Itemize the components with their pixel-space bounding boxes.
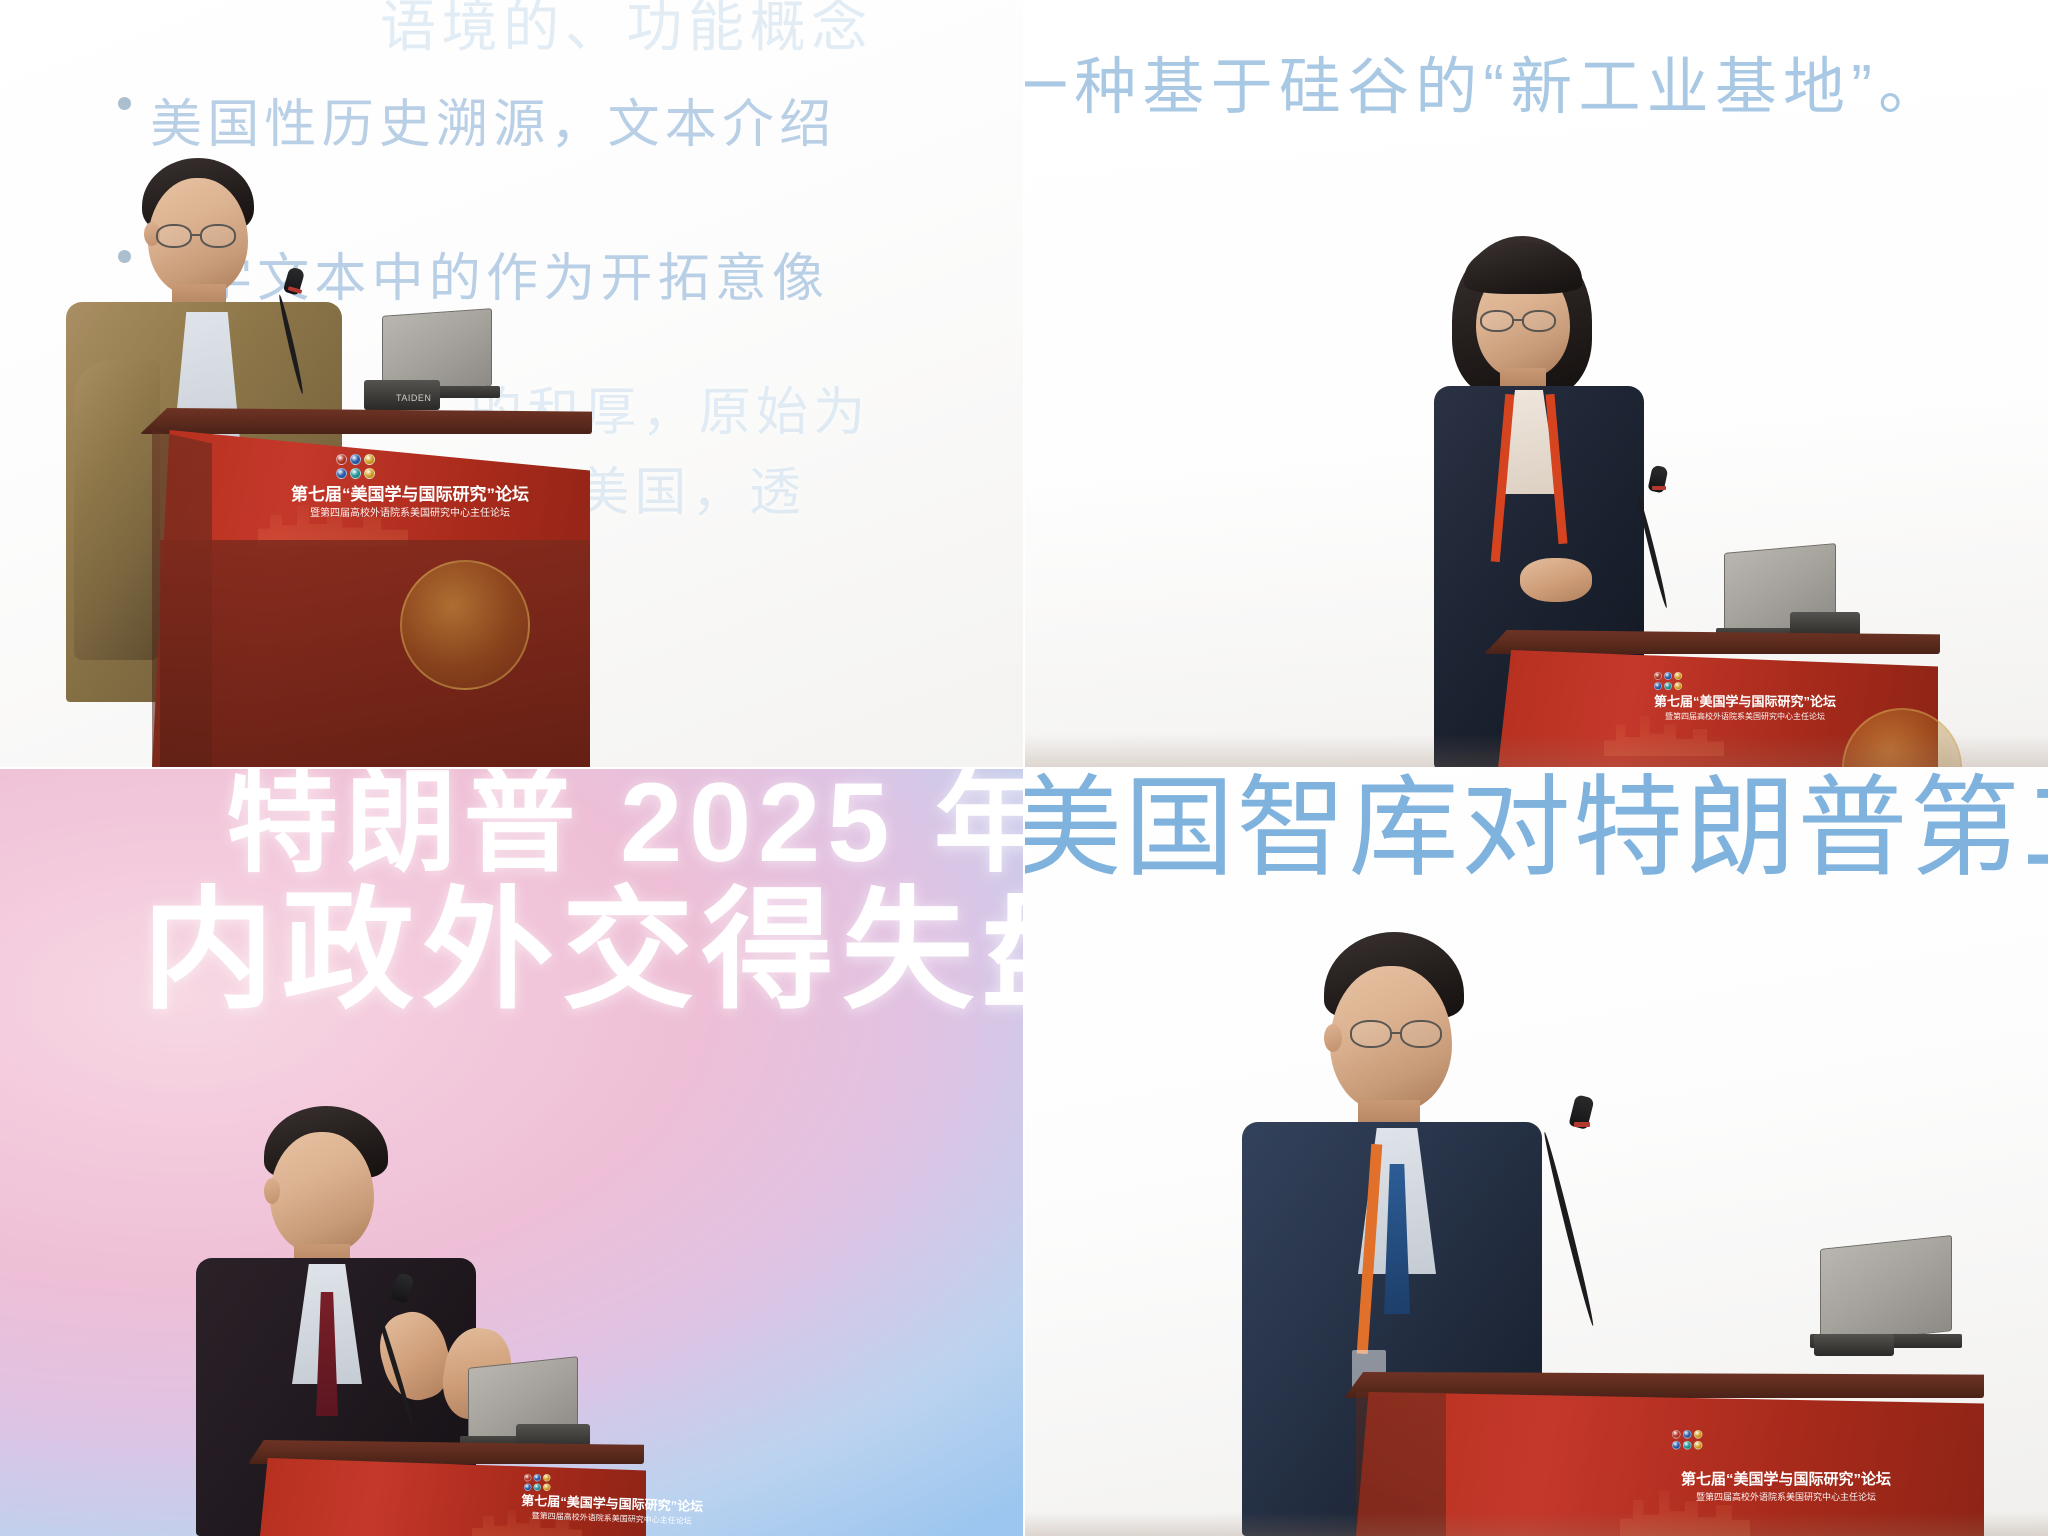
podium-base [160,540,590,768]
sponsor-logo-icon [364,454,375,465]
microphone-brand-label: TAIDEN [396,393,431,403]
panel-top-right: 一种基于硅谷的“新工业基地”。 [1024,0,2048,768]
sponsor-logo-icon [336,454,347,465]
sponsor-logo-icon [1672,1430,1681,1439]
podium-event-banner: 第七届“美国学与国际研究”论坛 暨第四届高校外语院系美国研究中心主任论坛 [230,478,590,526]
podium-event-banner: 第七届“美国学与国际研究”论坛 暨第四届高校外语院系美国研究中心主任论坛 [1580,688,1910,728]
glasses-bridge [192,234,201,236]
banner-title-line1: 第七届“美国学与国际研究”论坛 [291,484,529,505]
glasses-left-lens [1480,310,1514,332]
photo-collage: 语境的、功能概念 美国性历史溯源，文本介绍 学文本中的作为开拓意像 的和厚，原始… [0,0,2048,1536]
slide-bullet-marker-1 [118,97,131,110]
sponsor-logo-icon [350,454,361,465]
slide-line-2: 内政外交得失盘 [142,844,1024,1035]
sponsor-logo-icon [1694,1441,1703,1450]
sponsor-logo-icon [1654,672,1662,680]
laptop-screen [1820,1235,1952,1345]
glasses-left-lens [156,224,192,248]
arm-left [74,360,160,660]
sponsor-logo-icon [1694,1430,1703,1439]
banner-title-line2: 暨第四届高校外语院系美国研究中心主任论坛 [1696,1492,1876,1503]
microphone-accent-ring [1652,486,1666,490]
podium-sponsor-logos [336,454,382,479]
podium-top-surface [140,408,592,434]
banner-title-line1: 第七届“美国学与国际研究”论坛 [1681,1471,1891,1490]
glasses-bridge [1514,319,1523,321]
podium-event-banner: 第七届“美国学与国际研究”论坛 暨第四届高校外语院系美国研究中心主任论坛 [1596,1464,1976,1510]
slide-headline: 美国智库对特朗普第二 [1024,768,2048,898]
glasses-right-lens [1400,1020,1442,1048]
head [270,1132,374,1254]
microphone-accent-ring [1574,1122,1590,1127]
slide-headline: 一种基于硅谷的“新工业基地”。 [1024,36,1946,126]
slide-line-partial-top: 语境的、功能概念 [380,0,873,63]
sponsor-logo-icon [1683,1441,1692,1450]
glasses-right-lens [200,224,236,248]
glasses-left-lens [1350,1020,1392,1048]
sponsor-logo-icon [1674,672,1682,680]
slide-bullet-1: 美国性历史溯源，文本介绍 [150,82,836,157]
panel-top-left: 语境的、功能概念 美国性历史溯源，文本介绍 学文本中的作为开拓意像 的和厚，原始… [0,0,1024,768]
glasses-right-lens [1522,310,1556,332]
panel-divider-horizontal [0,767,2048,769]
sponsor-logo-icon [524,1474,531,1481]
banner-title-line1: 第七届“美国学与国际研究”论坛 [1654,694,1836,710]
sponsor-logo-icon [534,1474,541,1481]
podium-university-emblem-icon [400,560,530,690]
microphone-base [1814,1334,1894,1356]
ear [1324,1024,1342,1052]
podium-sponsor-logos [1672,1430,1708,1450]
sponsor-logo-icon [1672,1441,1681,1450]
hands-clasped [1520,558,1592,602]
banner-title-line2: 暨第四届高校外语院系美国研究中心主任论坛 [1665,712,1825,722]
sponsor-logo-icon [1664,672,1672,680]
sponsor-logo-icon [543,1474,550,1481]
panel-bottom-left: 特朗普 2025 年 内政外交得失盘 [0,768,1024,1536]
glasses-bridge [1391,1032,1401,1034]
sponsor-logo-icon [1683,1430,1692,1439]
room-floor-band [1024,1512,2048,1536]
panel-bottom-right: 美国智库对特朗普第二 [1024,768,2048,1536]
room-floor-band [1024,734,2048,768]
ear [264,1178,280,1204]
